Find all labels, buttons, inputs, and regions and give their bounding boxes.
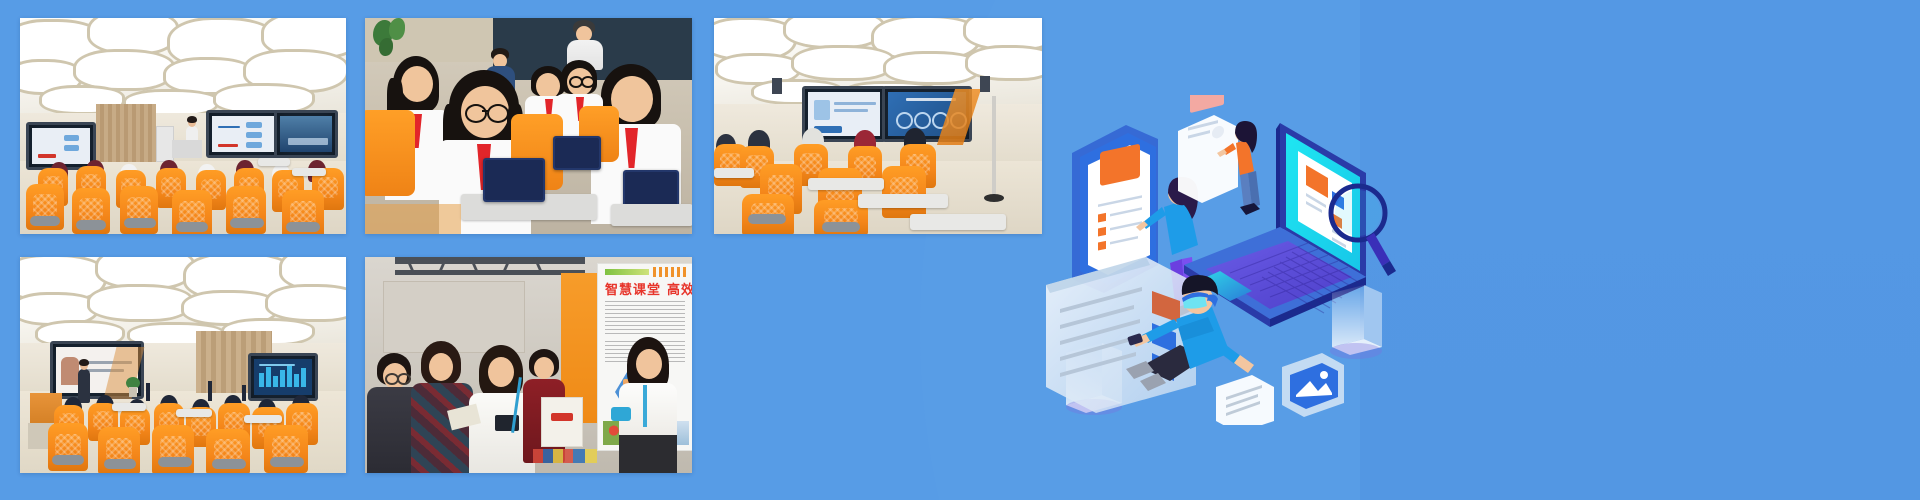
poster-title-efficient-learning: 高效学习 — [667, 279, 692, 298]
poster-title-smart-classroom: 智慧课堂 — [605, 279, 661, 298]
isometric-elearning-illustration — [1030, 95, 1430, 425]
floating-image-card — [1282, 353, 1344, 417]
floating-document-card — [1046, 257, 1196, 413]
promo-banner: 智慧课堂 高效学习 网络学 — [0, 0, 1920, 500]
standing-person-card — [1178, 95, 1260, 215]
photo-smart-classroom-wide[interactable] — [20, 18, 346, 234]
floating-document-card-small — [1216, 375, 1274, 425]
photo-exhibition-booth[interactable]: 智慧课堂 高效学习 网络学 — [365, 257, 692, 473]
pedestal-right — [1330, 285, 1382, 359]
photo-lecture-hall-hands-raised[interactable] — [20, 257, 346, 473]
photo-classroom-presentation[interactable] — [714, 18, 1042, 234]
photo-students-with-tablets[interactable] — [365, 18, 692, 234]
